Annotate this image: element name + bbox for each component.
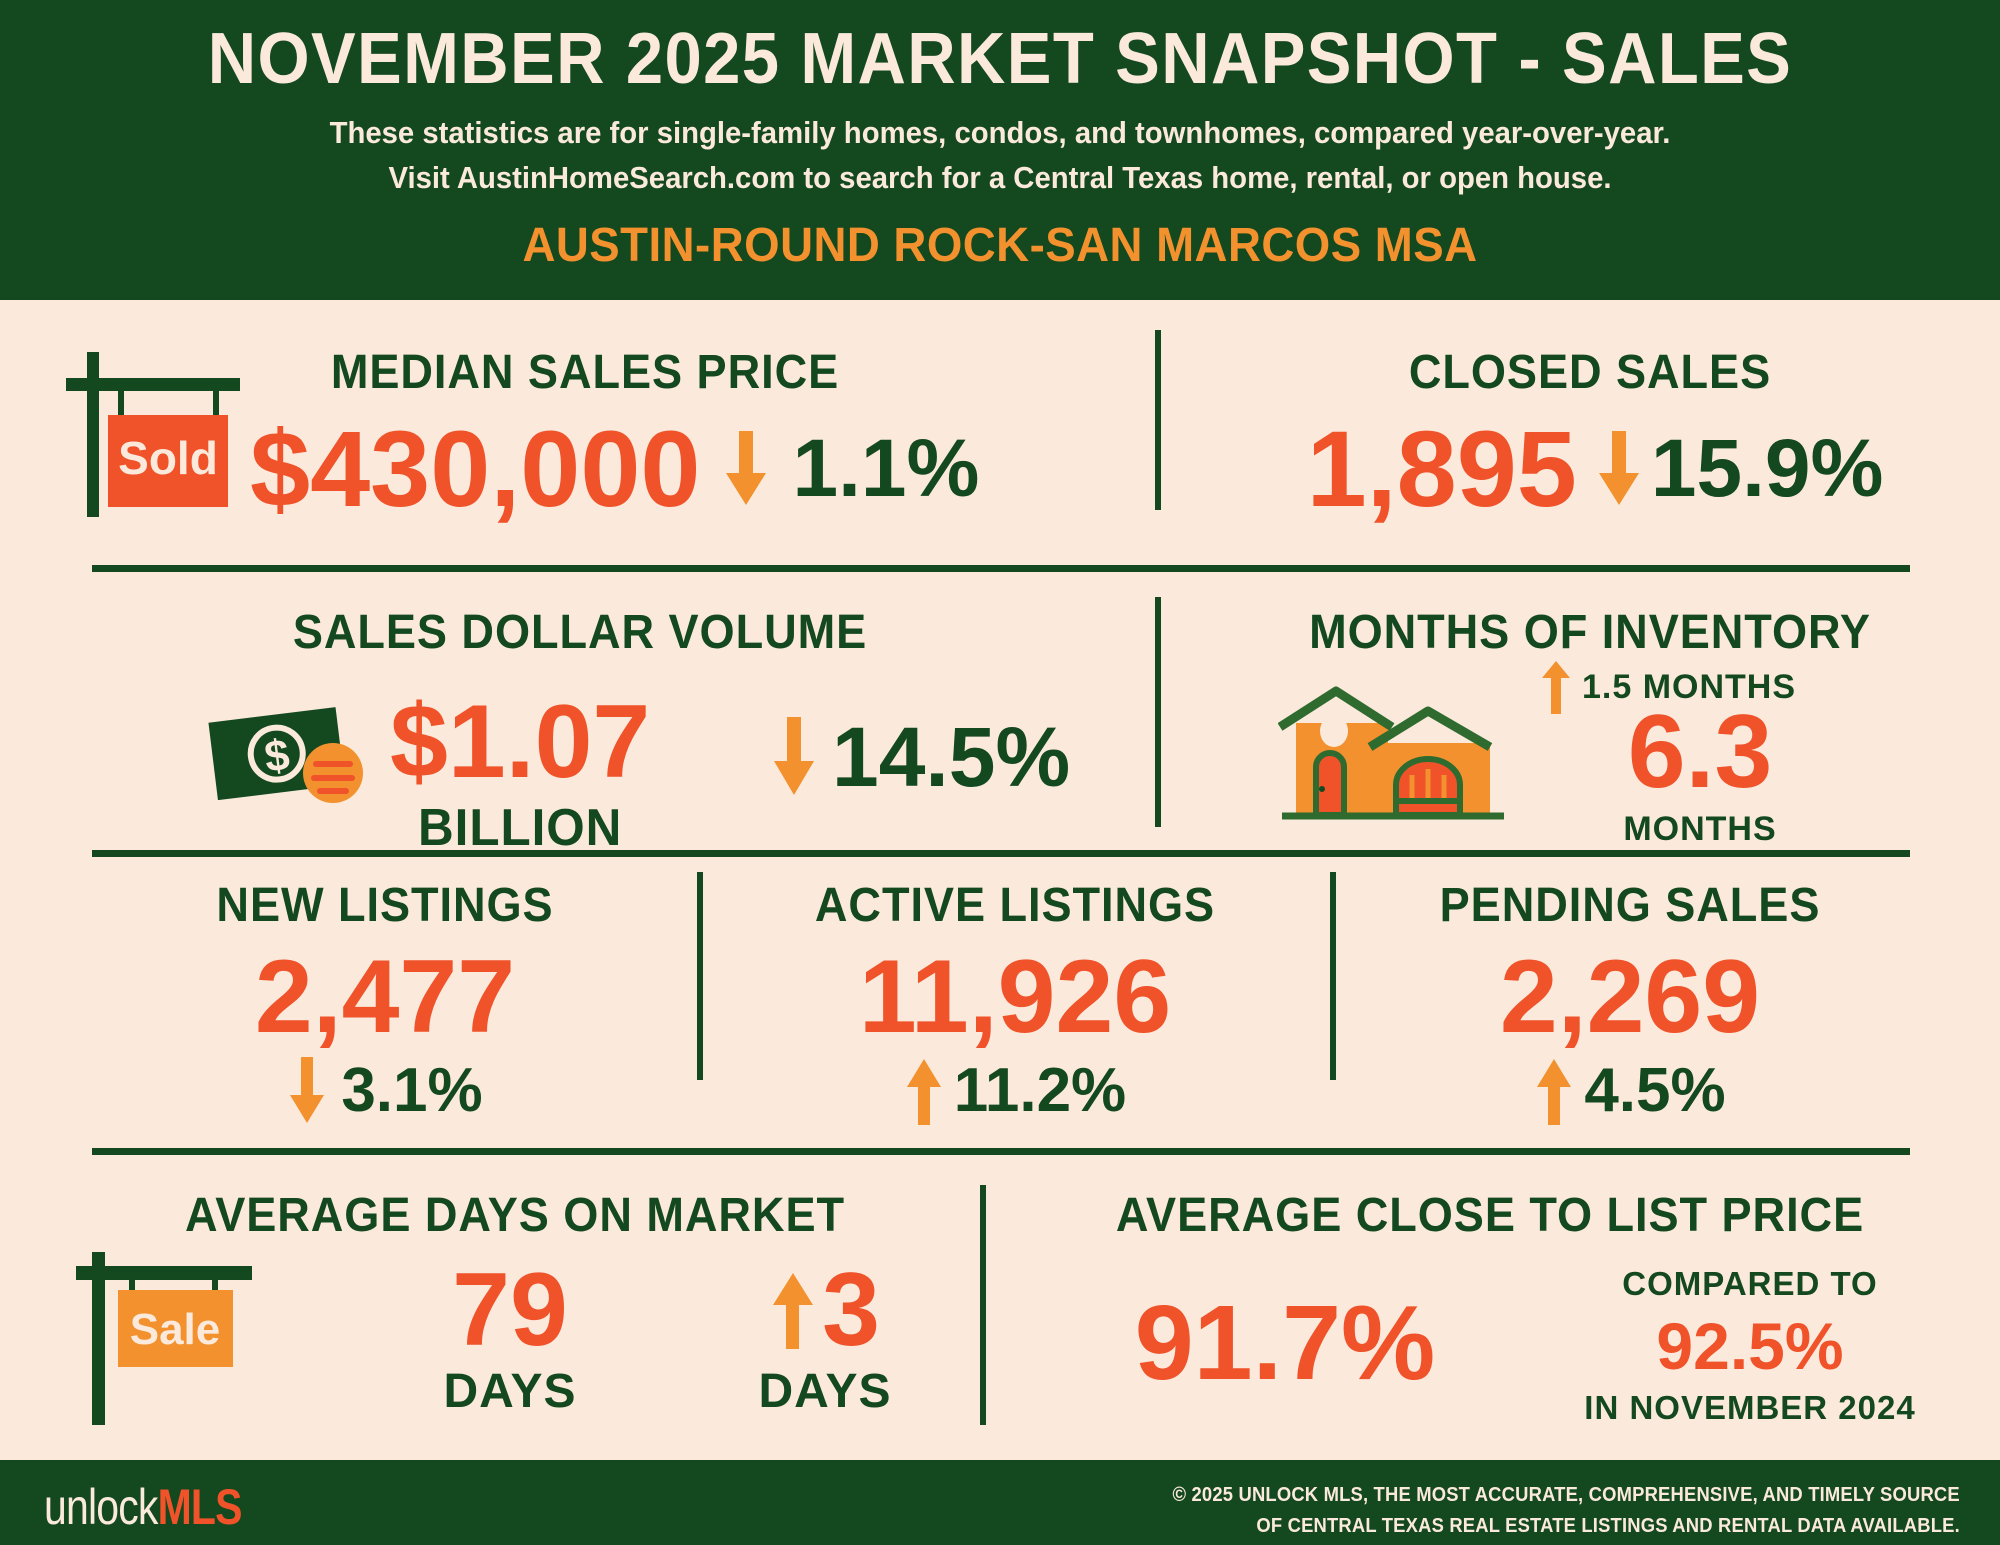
new-listings-block: NEW LISTINGS 2,477 3.1% [90, 878, 680, 1125]
average-close-to-list-price-value-wrap: 91.7% [1060, 1290, 1510, 1396]
arrow-up-icon [904, 1057, 944, 1125]
median-sales-price-value-row: $430,000 1.1% [250, 415, 979, 523]
new-listings-label: NEW LISTINGS [108, 878, 663, 933]
average-days-on-market-value-wrap: 79 DAYS [370, 1258, 650, 1419]
houses-icon [1278, 685, 1510, 830]
divider-vertical-row3-b [1330, 872, 1336, 1080]
median-sales-price-label: MEDIAN SALES PRICE [289, 345, 881, 400]
median-sales-price-value: $430,000 [250, 415, 700, 523]
divider-vertical-row1 [1155, 330, 1161, 510]
compare-to-period: IN NOVEMBER 2024 [1530, 1389, 1970, 1427]
header-subtitle-line2: Visit AustinHomeSearch.com to search for… [40, 157, 1960, 200]
infographic-page: NOVEMBER 2025 MARKET SNAPSHOT - SALES Th… [0, 0, 2000, 1545]
header-subtitle-line1: These statistics are for single-family h… [40, 112, 1960, 155]
average-days-on-market-change-unit: DAYS [680, 1364, 970, 1419]
svg-text:Sold: Sold [118, 432, 218, 484]
average-close-to-list-price-value: 91.7% [1060, 1290, 1510, 1396]
sale-sign-icon: Sale [62, 1248, 262, 1428]
median-sales-price-label-wrap: MEDIAN SALES PRICE [270, 345, 900, 400]
divider-horizontal-3 [92, 1148, 1910, 1155]
copyright-line2: OF CENTRAL TEXAS REAL ESTATE LISTINGS AN… [1173, 1511, 1960, 1542]
logo-mls-text: MLS [158, 1479, 242, 1535]
pending-sales-value: 2,269 [1345, 945, 1915, 1049]
svg-text:Sale: Sale [130, 1305, 221, 1354]
closed-sales-value-row: 1,895 15.9% [1200, 415, 1990, 523]
average-days-on-market-value: 79 [370, 1258, 650, 1362]
sales-dollar-volume-value-wrap: $1.07 BILLION [390, 690, 650, 858]
copyright-line1: © 2025 UNLOCK MLS, THE MOST ACCURATE, CO… [1173, 1480, 1960, 1511]
active-listings-change-row: 11.2% [710, 1057, 1320, 1125]
active-listings-block: ACTIVE LISTINGS 11,926 11.2% [710, 878, 1320, 1125]
new-listings-change-row: 3.1% [90, 1057, 680, 1125]
arrow-down-icon [722, 431, 770, 507]
months-of-inventory-label-wrap: MONTHS OF INVENTORY [1180, 605, 2000, 660]
months-of-inventory-label: MONTHS OF INVENTORY [1205, 605, 1976, 660]
pending-sales-change-row: 4.5% [1345, 1057, 1915, 1125]
pending-sales-label: PENDING SALES [1362, 878, 1898, 933]
average-days-on-market-label-wrap: AVERAGE DAYS ON MARKET [70, 1188, 960, 1243]
pending-sales-change: 4.5% [1584, 1060, 1725, 1122]
compare-to-label: COMPARED TO [1530, 1265, 1970, 1303]
closed-sales-change: 15.9% [1651, 428, 1884, 510]
money-bill-icon: $ [205, 695, 375, 815]
sales-dollar-volume-value: $1.07 [390, 690, 650, 794]
copyright-text: © 2025 UNLOCK MLS, THE MOST ACCURATE, CO… [1173, 1480, 1960, 1542]
new-listings-value: 2,477 [90, 945, 680, 1049]
closed-sales-label: CLOSED SALES [1223, 345, 1956, 400]
average-close-to-list-price-label-wrap: AVERAGE CLOSE TO LIST PRICE [1000, 1188, 1980, 1243]
active-listings-label: ACTIVE LISTINGS [728, 878, 1301, 933]
sold-sign-icon: Sold [60, 340, 240, 520]
sales-dollar-volume-label: SALES DOLLAR VOLUME [176, 605, 984, 660]
header-msa-label: AUSTIN-ROUND ROCK-SAN MARCOS MSA [50, 218, 1950, 273]
arrow-down-icon [287, 1057, 327, 1125]
divider-horizontal-2 [92, 850, 1910, 857]
divider-vertical-row3-a [697, 872, 703, 1080]
average-days-on-market-change-row: 3 [680, 1258, 970, 1362]
compare-to-value: 92.5% [1530, 1313, 1970, 1379]
months-of-inventory-value: 6.3 [1540, 700, 1860, 804]
arrow-down-icon [1595, 431, 1643, 507]
divider-vertical-row2 [1155, 597, 1161, 827]
pending-sales-block: PENDING SALES 2,269 4.5% [1345, 878, 1915, 1125]
sales-dollar-volume-change-row: 14.5% [770, 715, 1070, 799]
closed-sales-value: 1,895 [1307, 415, 1577, 523]
divider-horizontal-1 [92, 565, 1910, 572]
sales-dollar-volume-unit: BILLION [397, 798, 644, 858]
average-close-to-list-price-label: AVERAGE CLOSE TO LIST PRICE [1029, 1188, 1950, 1243]
active-listings-value: 11,926 [710, 945, 1320, 1049]
new-listings-change: 3.1% [341, 1060, 482, 1122]
footer-bar: unlockMLS © 2025 UNLOCK MLS, THE MOST AC… [0, 1460, 2000, 1545]
average-days-on-market-change: 3 [822, 1258, 880, 1362]
average-close-to-list-price-compare-wrap: COMPARED TO 92.5% IN NOVEMBER 2024 [1530, 1265, 1970, 1427]
median-sales-price-change: 1.1% [792, 428, 979, 510]
arrow-up-icon [1534, 1057, 1574, 1125]
average-days-on-market-change-wrap: 3 DAYS [680, 1258, 970, 1419]
average-days-on-market-unit: DAYS [370, 1364, 650, 1419]
sales-dollar-volume-change: 14.5% [832, 715, 1070, 799]
header-banner: NOVEMBER 2025 MARKET SNAPSHOT - SALES Th… [0, 0, 2000, 300]
arrow-up-icon [770, 1271, 816, 1349]
average-days-on-market-label: AVERAGE DAYS ON MARKET [97, 1188, 934, 1243]
months-of-inventory-value-wrap: 6.3 MONTHS [1540, 700, 1860, 849]
unlock-mls-logo: unlockMLS [44, 1478, 242, 1536]
logo-unlock-text: unlock [44, 1479, 158, 1535]
arrow-down-icon [770, 717, 818, 797]
page-title: NOVEMBER 2025 MARKET SNAPSHOT - SALES [70, 22, 1930, 98]
sales-dollar-volume-label-wrap: SALES DOLLAR VOLUME [150, 605, 1010, 660]
divider-vertical-row4 [980, 1185, 986, 1425]
months-of-inventory-unit: MONTHS [1540, 810, 1860, 849]
active-listings-change: 11.2% [954, 1060, 1126, 1122]
closed-sales-label-wrap: CLOSED SALES [1200, 345, 1980, 400]
